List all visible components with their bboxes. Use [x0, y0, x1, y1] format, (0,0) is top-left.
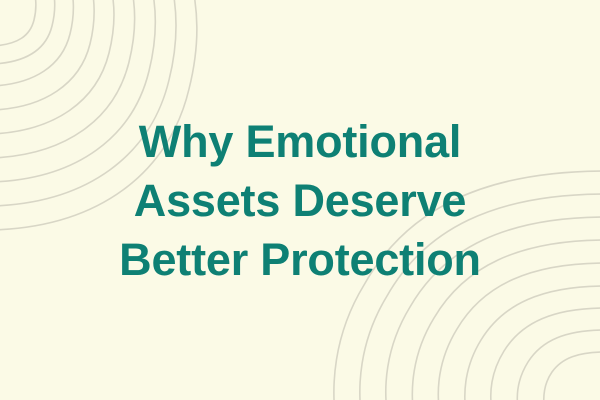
headline-line-2: Assets Deserve — [134, 171, 466, 230]
headline-line-1: Why Emotional — [139, 112, 461, 171]
headline-block: Why Emotional Assets Deserve Better Prot… — [0, 0, 600, 400]
headline-line-3: Better Protection — [119, 230, 481, 289]
quote-card: Why Emotional Assets Deserve Better Prot… — [0, 0, 600, 400]
